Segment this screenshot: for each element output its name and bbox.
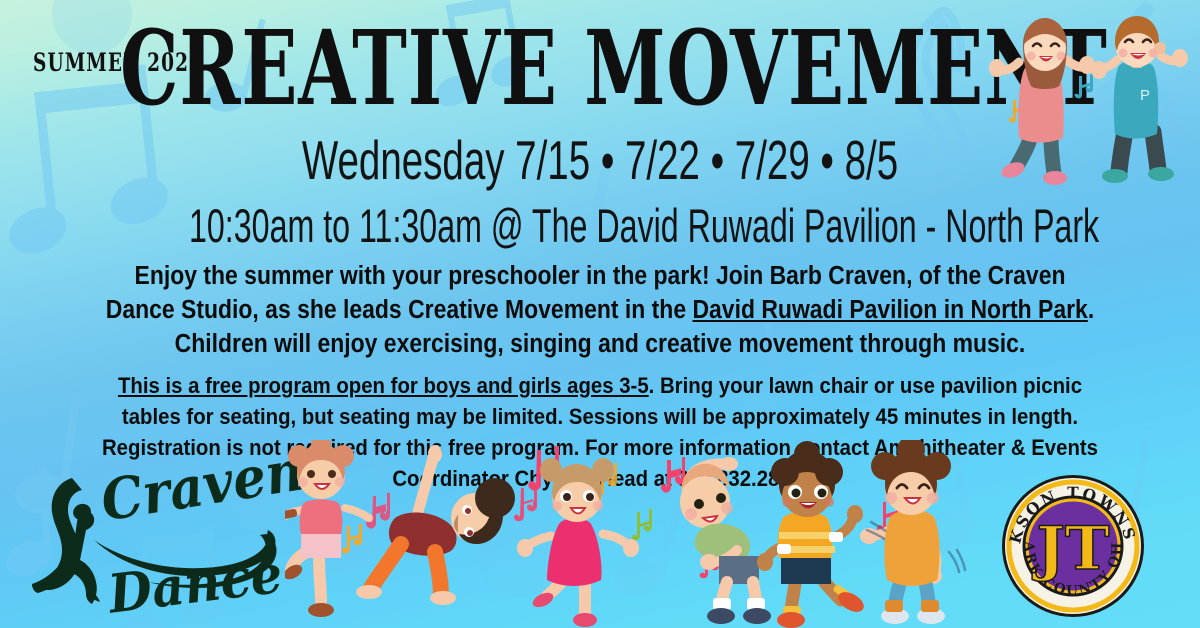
dancing-kids-illustration	[285, 440, 985, 628]
svg-text:P: P	[1140, 87, 1150, 104]
dates-line-text: Wednesday 7/15 • 7/22 • 7/29 • 8/5	[302, 129, 898, 191]
kid-green-shirt	[680, 457, 771, 624]
dates-line: Wednesday 7/15 • 7/22 • 7/29 • 8/5	[180, 132, 1020, 190]
kid-yellow-stripes	[757, 441, 867, 628]
seal-monogram: JT	[1031, 514, 1109, 584]
time-location-line: 10:30am to 11:30am @ The David Ruwadi Pa…	[189, 198, 1011, 253]
dance-wordmark: Dance	[103, 543, 285, 618]
page-title: CREATIVE MOVEMENT	[120, 18, 1080, 119]
description-paragraph: Enjoy the summer with your preschooler i…	[105, 260, 1095, 362]
jackson-township-seal: JACKSON TOWNSHIP STARK COUNTY OHIO JT	[1000, 473, 1146, 619]
kid-orange-shirt	[860, 440, 965, 624]
girl-jumping	[989, 18, 1095, 185]
flyer-canvas: SUMMER 2026 CREATIVE MOVEMENT Wednesday …	[0, 0, 1200, 628]
jumping-kids-illustration: P	[975, 14, 1195, 204]
free-program-emphasis: This is a free program open for boys and…	[118, 373, 649, 398]
kid-orange-pants	[356, 445, 515, 605]
venue-link: David Ruwadi Pavilion in North Park	[692, 296, 1087, 324]
craven-wordmark: Craven	[96, 458, 307, 534]
boy-jumping: P	[1091, 16, 1188, 183]
craven-dance-logo: Craven Dance	[26, 458, 316, 618]
